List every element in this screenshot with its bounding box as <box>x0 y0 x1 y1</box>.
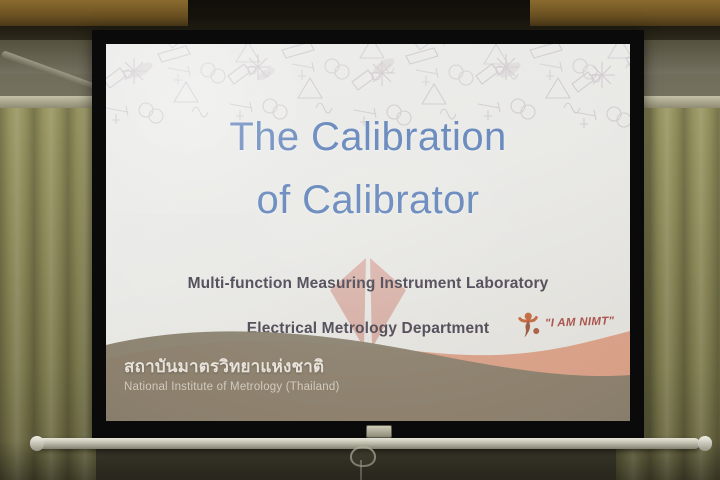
person-raised-arms-icon <box>515 310 542 339</box>
institute-name-english: National Institute of Metrology (Thailan… <box>124 377 454 399</box>
institute-name-block: สถาบันมาตรวิทยาแห่งชาติ National Institu… <box>124 356 454 399</box>
curtain-left <box>0 100 96 480</box>
room-scene: The Calibration of Calibrator Multi-func… <box>0 0 720 480</box>
roller-cap-right <box>698 436 712 451</box>
roller-cap-left <box>30 436 44 451</box>
title-line-2: of Calibrator <box>106 169 630 232</box>
title-line-1: The Calibration <box>106 106 630 169</box>
institute-name-thai: สถาบันมาตรวิทยาแห่งชาติ <box>124 356 454 377</box>
projection-screen-surface: The Calibration of Calibrator Multi-func… <box>106 44 630 421</box>
slide-title: The Calibration of Calibrator <box>106 106 630 232</box>
presentation-slide: The Calibration of Calibrator Multi-func… <box>106 44 630 421</box>
curtain-header-left <box>0 96 96 108</box>
wood-ceiling-panel-left <box>0 0 188 26</box>
screen-pull-ring[interactable] <box>350 446 376 467</box>
screen-center-latch[interactable] <box>366 425 392 438</box>
projection-screen-frame: The Calibration of Calibrator Multi-func… <box>92 30 644 442</box>
i-am-nimt-text: "I AM NIMT" <box>544 315 614 329</box>
wood-ceiling-panel-right <box>530 0 720 26</box>
screen-pull-cord[interactable] <box>360 460 362 480</box>
i-am-nimt-logo: "I AM NIMT" <box>515 307 614 338</box>
